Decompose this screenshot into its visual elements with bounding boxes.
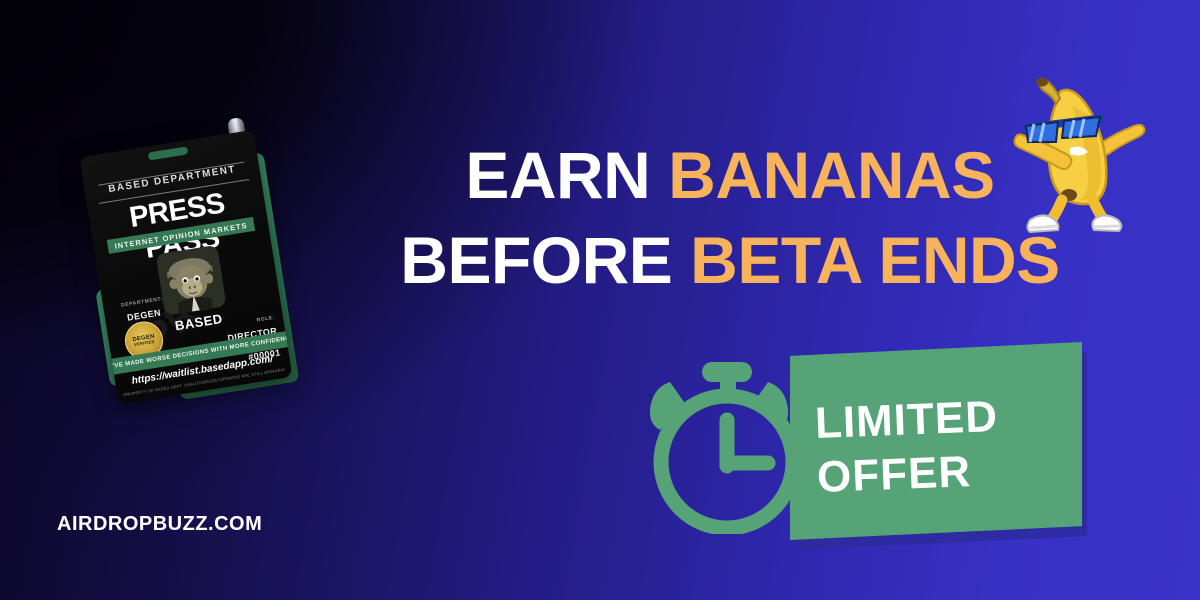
headline-word-earn: EARN: [465, 138, 650, 212]
headline-word-before: BEFORE: [400, 223, 672, 297]
press-pass-badge: BASED BASED DEPARTMENT PRESS PASS INTERN…: [88, 112, 328, 412]
offer-line-2: OFFER: [812, 441, 1084, 505]
promo-banner: BASED BASED DEPARTMENT PRESS PASS INTERN…: [0, 0, 1200, 600]
dabbing-banana-icon: [1000, 62, 1150, 237]
site-url: AIRDROPBUZZ.COM: [57, 513, 262, 536]
headline: EARN BANANAS BEFORE BETA ENDS: [360, 140, 1100, 297]
offer-text: LIMITED OFFER: [809, 361, 1085, 531]
headline-line-1: EARN BANANAS: [360, 140, 1100, 211]
headline-word-bananas: BANANAS: [668, 138, 995, 212]
limited-offer-badge: LIMITED OFFER: [640, 330, 1090, 565]
badge-department-key: DEPARTMENT:: [113, 295, 171, 310]
badge-slot: [148, 146, 189, 160]
alarm-clock-icon: [640, 344, 820, 534]
headline-line-2: BEFORE BETA ENDS: [360, 225, 1100, 296]
seal-line-2: VERIFIED: [134, 340, 155, 348]
